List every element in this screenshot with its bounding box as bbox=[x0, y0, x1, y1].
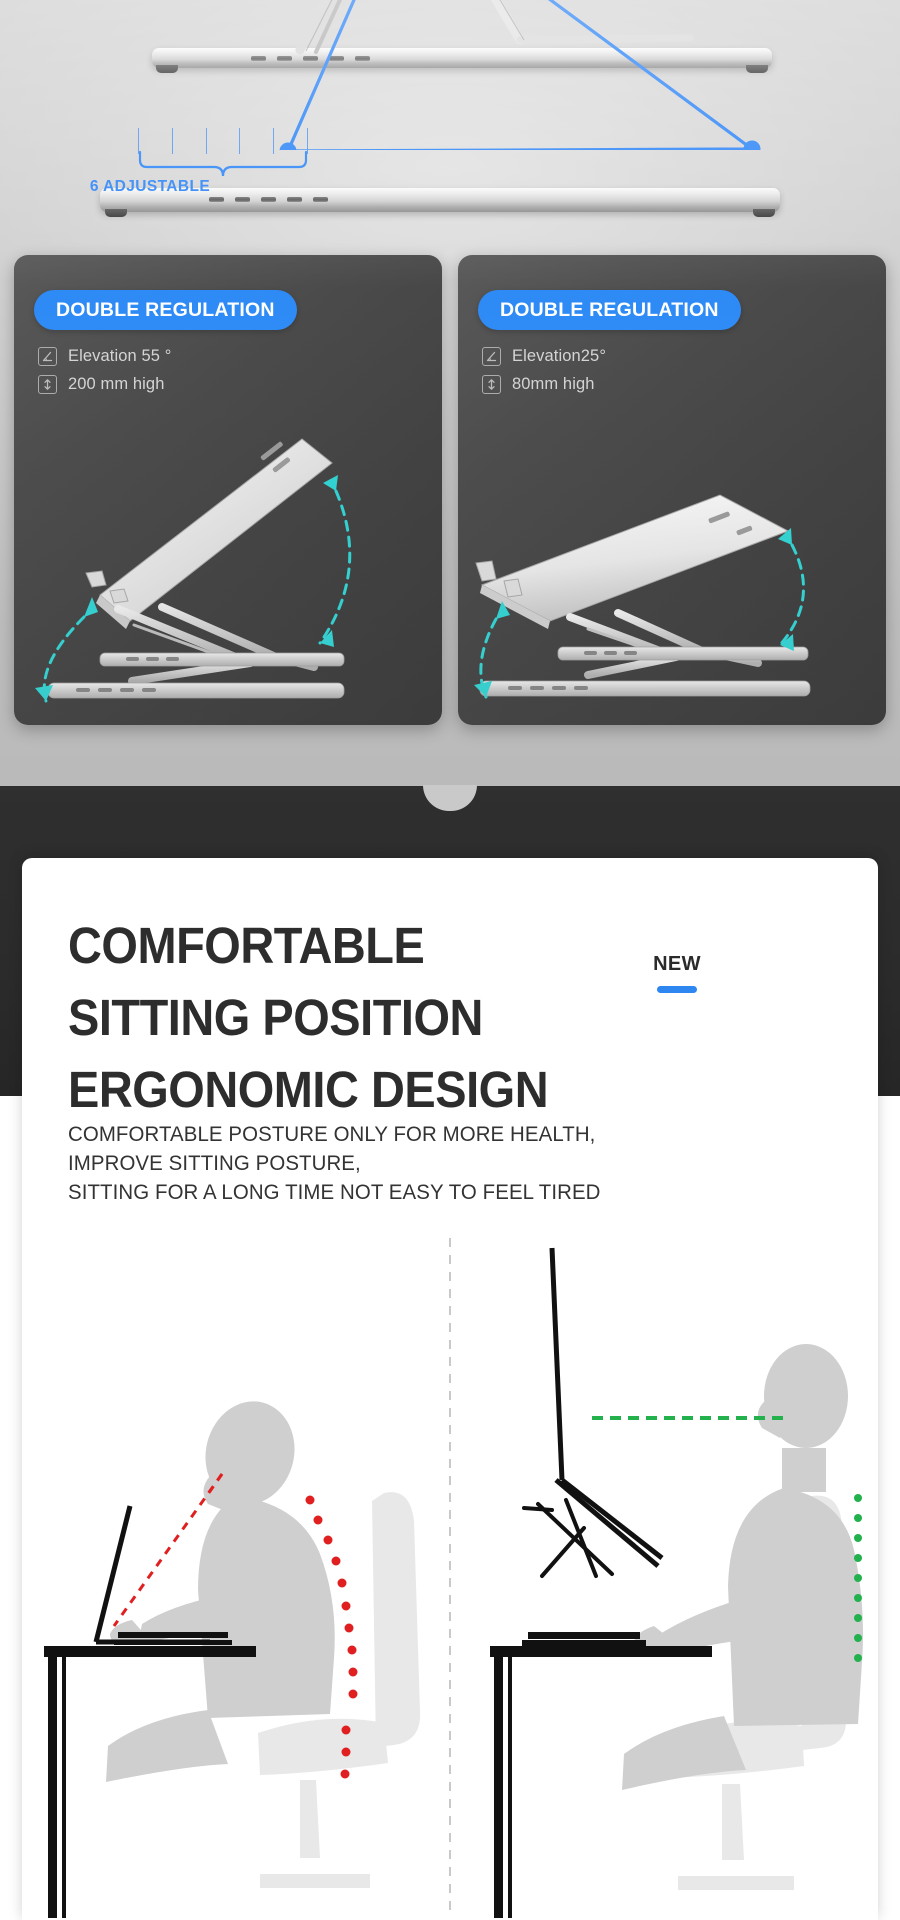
spec-text-height-right: 80mm high bbox=[512, 375, 595, 394]
spec-row-height-left: 200 mm high bbox=[38, 375, 171, 394]
body-line-1: COMFORTABLE POSTURE ONLY FOR MORE HEALTH… bbox=[68, 1120, 771, 1149]
regulation-panel-right[interactable]: DOUBLE REGULATION Elevation25° bbox=[458, 255, 886, 725]
good-spine-dots bbox=[854, 1494, 862, 1662]
height-arrow-icon bbox=[482, 375, 501, 394]
stand-render-shallow bbox=[458, 395, 886, 725]
body-copy: COMFORTABLE POSTURE ONLY FOR MORE HEALTH… bbox=[68, 1120, 771, 1207]
double-regulation-badge-left: DOUBLE REGULATION bbox=[34, 290, 297, 330]
stand-render-steep bbox=[14, 395, 442, 725]
ergonomic-illustration bbox=[22, 1228, 878, 1918]
front-bar-foot-right bbox=[753, 209, 775, 217]
stand-frame-overlay bbox=[0, 0, 900, 150]
spec-row-elevation-left: Elevation 55 ° bbox=[38, 347, 171, 366]
new-badge-dash bbox=[657, 986, 697, 993]
regulation-panels: DOUBLE REGULATION Elevation 55 ° bbox=[0, 255, 900, 725]
front-bar-foot-left bbox=[105, 209, 127, 217]
stand-product-photo bbox=[0, 0, 900, 190]
body-line-3: SITTING FOR A LONG TIME NOT EASY TO FEEL… bbox=[68, 1178, 771, 1207]
scene-good-posture bbox=[490, 1248, 863, 1918]
adjustable-bracket bbox=[138, 128, 308, 180]
new-badge: NEW bbox=[622, 953, 732, 993]
spec-text-height-left: 200 mm high bbox=[68, 375, 164, 394]
product-detail-page: 6 ADJUSTABLE DOUBLE REGULATION Elevation… bbox=[0, 0, 900, 1920]
headline-line-2: SITTING POSITION bbox=[68, 982, 620, 1054]
spec-row-elevation-right: Elevation25° bbox=[482, 347, 606, 366]
ergonomic-card: COMFORTABLE SITTING POSITION ERGONOMIC D… bbox=[22, 858, 878, 1920]
spec-row-height-right: 80mm high bbox=[482, 375, 606, 394]
scene-bad-posture bbox=[44, 1392, 420, 1918]
adjustable-label: 6 ADJUSTABLE bbox=[0, 178, 300, 196]
front-bar-slots bbox=[209, 197, 328, 202]
angle-icon bbox=[38, 347, 57, 366]
headline-line-1: COMFORTABLE bbox=[68, 910, 620, 982]
bracket-curly bbox=[138, 150, 308, 180]
height-arrow-icon bbox=[38, 375, 57, 394]
page-title: COMFORTABLE SITTING POSITION ERGONOMIC D… bbox=[68, 910, 620, 1126]
double-regulation-badge-right: DOUBLE REGULATION bbox=[478, 290, 741, 330]
spec-text-elevation-left: Elevation 55 ° bbox=[68, 347, 171, 366]
spec-text-elevation-right: Elevation25° bbox=[512, 347, 606, 366]
headline-line-3: ERGONOMIC DESIGN bbox=[68, 1054, 620, 1126]
posture-comparison-svg bbox=[22, 1228, 878, 1918]
new-badge-label: NEW bbox=[622, 953, 732, 976]
laptop-on-stand bbox=[522, 1248, 662, 1646]
regulation-panel-left[interactable]: DOUBLE REGULATION Elevation 55 ° bbox=[14, 255, 442, 725]
angle-icon bbox=[482, 347, 501, 366]
body-line-2: IMPROVE SITTING POSTURE, bbox=[68, 1149, 771, 1178]
band-notch bbox=[423, 785, 477, 811]
